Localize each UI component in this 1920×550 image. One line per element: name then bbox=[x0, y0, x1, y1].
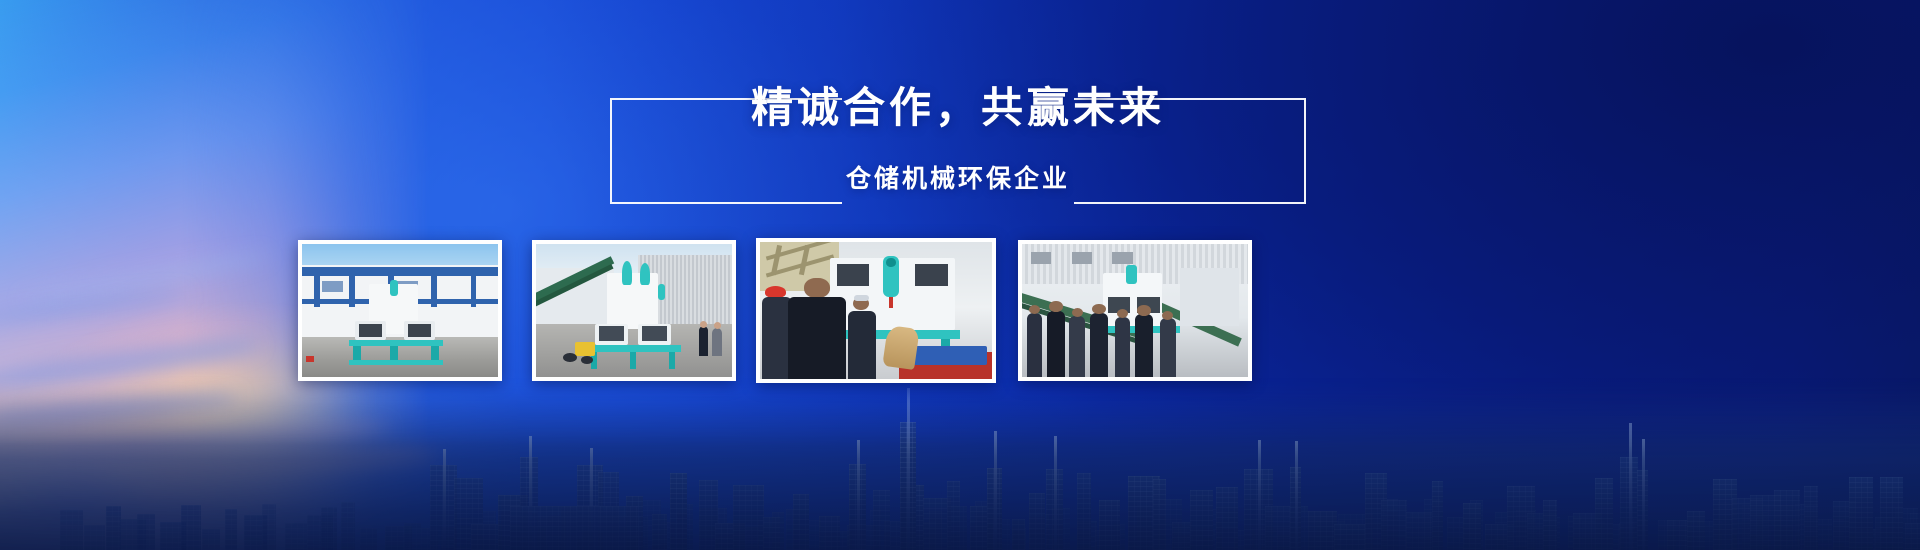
promo-banner: 精诚合作，共赢未来 仓储机械环保企业 bbox=[0, 0, 1920, 550]
banner-subtitle: 仓储机械环保企业 bbox=[610, 162, 1306, 196]
banner-title: 精诚合作，共赢未来 bbox=[610, 82, 1306, 134]
photo-thumbnail[interactable] bbox=[1018, 240, 1252, 381]
photo-1-image bbox=[302, 244, 498, 377]
photo-thumbnail[interactable] bbox=[756, 238, 996, 383]
headline-block: 精诚合作，共赢未来 仓储机械环保企业 bbox=[610, 98, 1306, 200]
photo-strip bbox=[298, 240, 1632, 385]
cityscape-haze bbox=[0, 375, 1920, 550]
photo-4-image bbox=[1022, 244, 1248, 377]
photo-thumbnail[interactable] bbox=[298, 240, 502, 381]
cityscape-silhouette bbox=[0, 375, 1920, 550]
photo-thumbnail[interactable] bbox=[532, 240, 736, 381]
photo-3-image bbox=[760, 242, 992, 379]
photo-2-image bbox=[536, 244, 732, 377]
